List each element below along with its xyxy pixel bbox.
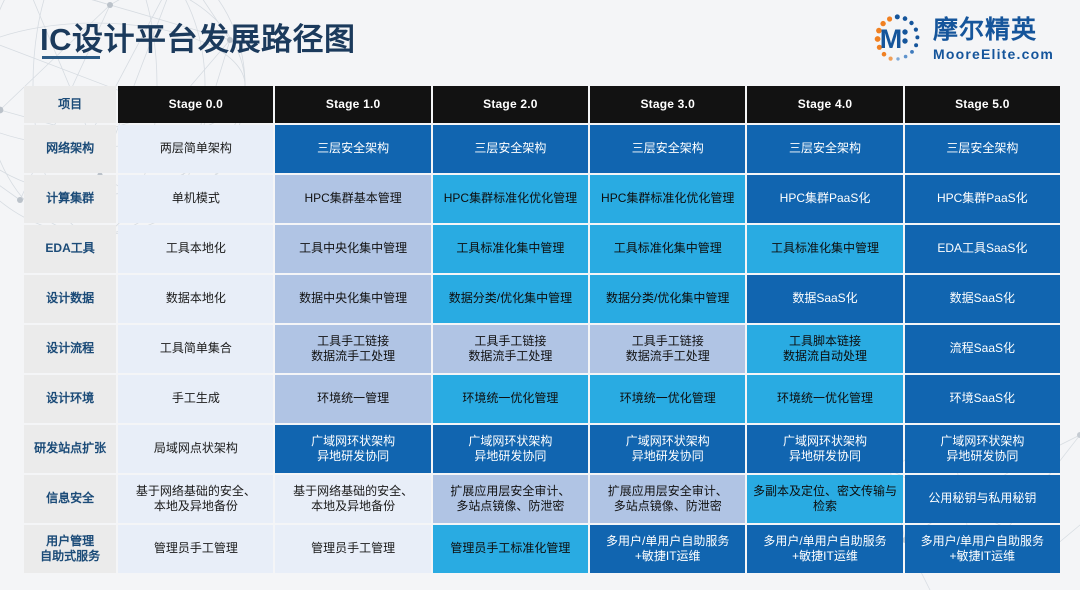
cell-r0-c1: 三层安全架构 [275,125,430,173]
cell-r1-c5: HPC集群PaaS化 [905,175,1060,223]
cell-r0-c5: 三层安全架构 [905,125,1060,173]
cell-r8-c3: 多用户/单用户自助服务+敏捷IT运维 [590,525,745,573]
logo-english-name: MooreElite.com [933,47,1054,61]
logo-letter-m: M [864,12,918,66]
cell-r5-c5: 环境SaaS化 [905,375,1060,423]
cell-r4-c5: 流程SaaS化 [905,325,1060,373]
cell-r4-c0: 工具简单集合 [118,325,273,373]
cell-r7-c4: 多副本及定位、密文传输与检索 [747,475,902,523]
table-body: 网络架构两层简单架构三层安全架构三层安全架构三层安全架构三层安全架构三层安全架构… [24,125,1060,573]
cell-r6-c2: 广域网环状架构异地研发协同 [433,425,588,473]
column-header-stage-3: Stage 3.0 [590,86,745,123]
row-label-0: 网络架构 [24,125,116,173]
cell-r7-c3: 扩展应用层安全审计、多站点镜像、防泄密 [590,475,745,523]
table-head: 项目 Stage 0.0 Stage 1.0 Stage 2.0 Stage 3… [24,86,1060,123]
row-label-8: 用户管理自助式服务 [24,525,116,573]
row-label-7: 信息安全 [24,475,116,523]
table-row: 设计环境手工生成环境统一管理环境统一优化管理环境统一优化管理环境统一优化管理环境… [24,375,1060,423]
cell-r1-c0: 单机模式 [118,175,273,223]
cell-r5-c0: 手工生成 [118,375,273,423]
cell-r5-c1: 环境统一管理 [275,375,430,423]
logo-chinese-name: 摩尔精英 [933,18,1054,43]
cell-r4-c3: 工具手工链接数据流手工处理 [590,325,745,373]
cell-r2-c0: 工具本地化 [118,225,273,273]
table-row: 网络架构两层简单架构三层安全架构三层安全架构三层安全架构三层安全架构三层安全架构 [24,125,1060,173]
cell-r3-c0: 数据本地化 [118,275,273,323]
column-header-stage-5: Stage 5.0 [905,86,1060,123]
table-row: 研发站点扩张局域网点状架构广域网环状架构异地研发协同广域网环状架构异地研发协同广… [24,425,1060,473]
column-header-stage-2: Stage 2.0 [433,86,588,123]
cell-r1-c3: HPC集群标准化优化管理 [590,175,745,223]
cell-r7-c5: 公用秘钥与私用秘钥 [905,475,1060,523]
cell-r6-c1: 广域网环状架构异地研发协同 [275,425,430,473]
cell-r0-c3: 三层安全架构 [590,125,745,173]
cell-r3-c4: 数据SaaS化 [747,275,902,323]
row-label-3: 设计数据 [24,275,116,323]
table-row: EDA工具工具本地化工具中央化集中管理工具标准化集中管理工具标准化集中管理工具标… [24,225,1060,273]
roadmap-table-wrapper: 项目 Stage 0.0 Stage 1.0 Stage 2.0 Stage 3… [22,84,1062,575]
cell-r2-c2: 工具标准化集中管理 [433,225,588,273]
row-label-6: 研发站点扩张 [24,425,116,473]
cell-r6-c5: 广域网环状架构异地研发协同 [905,425,1060,473]
cell-r2-c5: EDA工具SaaS化 [905,225,1060,273]
cell-r8-c5: 多用户/单用户自助服务+敏捷IT运维 [905,525,1060,573]
cell-r2-c1: 工具中央化集中管理 [275,225,430,273]
cell-r0-c4: 三层安全架构 [747,125,902,173]
row-label-5: 设计环境 [24,375,116,423]
cell-r2-c4: 工具标准化集中管理 [747,225,902,273]
column-header-stage-1: Stage 1.0 [275,86,430,123]
page-title: IC设计平台发展路径图 [40,14,356,59]
row-label-4: 设计流程 [24,325,116,373]
table-row: 计算集群单机模式HPC集群基本管理HPC集群标准化优化管理HPC集群标准化优化管… [24,175,1060,223]
cell-r3-c5: 数据SaaS化 [905,275,1060,323]
cell-r7-c1: 基于网络基础的安全、本地及异地备份 [275,475,430,523]
cell-r3-c3: 数据分类/优化集中管理 [590,275,745,323]
cell-r5-c2: 环境统一优化管理 [433,375,588,423]
cell-r0-c2: 三层安全架构 [433,125,588,173]
column-header-stage-0: Stage 0.0 [118,86,273,123]
cell-r4-c2: 工具手工链接数据流手工处理 [433,325,588,373]
cell-r6-c4: 广域网环状架构异地研发协同 [747,425,902,473]
cell-r8-c0: 管理员手工管理 [118,525,273,573]
cell-r0-c0: 两层简单架构 [118,125,273,173]
slide-header: IC设计平台发展路径图 [0,0,1080,78]
cell-r4-c1: 工具手工链接数据流手工处理 [275,325,430,373]
cell-r3-c1: 数据中央化集中管理 [275,275,430,323]
cell-r8-c4: 多用户/单用户自助服务+敏捷IT运维 [747,525,902,573]
table-row: 用户管理自助式服务管理员手工管理管理员手工管理管理员手工标准化管理多用户/单用户… [24,525,1060,573]
cell-r2-c3: 工具标准化集中管理 [590,225,745,273]
cell-r1-c4: HPC集群PaaS化 [747,175,902,223]
cell-r6-c3: 广域网环状架构异地研发协同 [590,425,745,473]
cell-r5-c3: 环境统一优化管理 [590,375,745,423]
slide-root: IC设计平台发展路径图 [0,0,1080,590]
cell-r8-c1: 管理员手工管理 [275,525,430,573]
cell-r8-c2: 管理员手工标准化管理 [433,525,588,573]
title-underline-rule [42,56,100,59]
row-label-2: EDA工具 [24,225,116,273]
table-row: 信息安全基于网络基础的安全、本地及异地备份基于网络基础的安全、本地及异地备份扩展… [24,475,1060,523]
column-header-stage-4: Stage 4.0 [747,86,902,123]
cell-r7-c0: 基于网络基础的安全、本地及异地备份 [118,475,273,523]
cell-r1-c2: HPC集群标准化优化管理 [433,175,588,223]
table-row: 设计数据数据本地化数据中央化集中管理数据分类/优化集中管理数据分类/优化集中管理… [24,275,1060,323]
row-label-1: 计算集群 [24,175,116,223]
cell-r3-c2: 数据分类/优化集中管理 [433,275,588,323]
cell-r4-c4: 工具脚本链接数据流自动处理 [747,325,902,373]
brand-logo: M 摩尔精英 MooreElite.com [870,8,1054,70]
logo-wordmark: 摩尔精英 MooreElite.com [933,18,1054,61]
mooreelite-mark-icon: M [870,12,924,66]
cell-r6-c0: 局域网点状架构 [118,425,273,473]
table-corner-label: 项目 [24,86,116,123]
cell-r7-c2: 扩展应用层安全审计、多站点镜像、防泄密 [433,475,588,523]
table-row: 设计流程工具简单集合工具手工链接数据流手工处理工具手工链接数据流手工处理工具手工… [24,325,1060,373]
cell-r5-c4: 环境统一优化管理 [747,375,902,423]
table-header-row: 项目 Stage 0.0 Stage 1.0 Stage 2.0 Stage 3… [24,86,1060,123]
roadmap-table: 项目 Stage 0.0 Stage 1.0 Stage 2.0 Stage 3… [22,84,1062,575]
cell-r1-c1: HPC集群基本管理 [275,175,430,223]
